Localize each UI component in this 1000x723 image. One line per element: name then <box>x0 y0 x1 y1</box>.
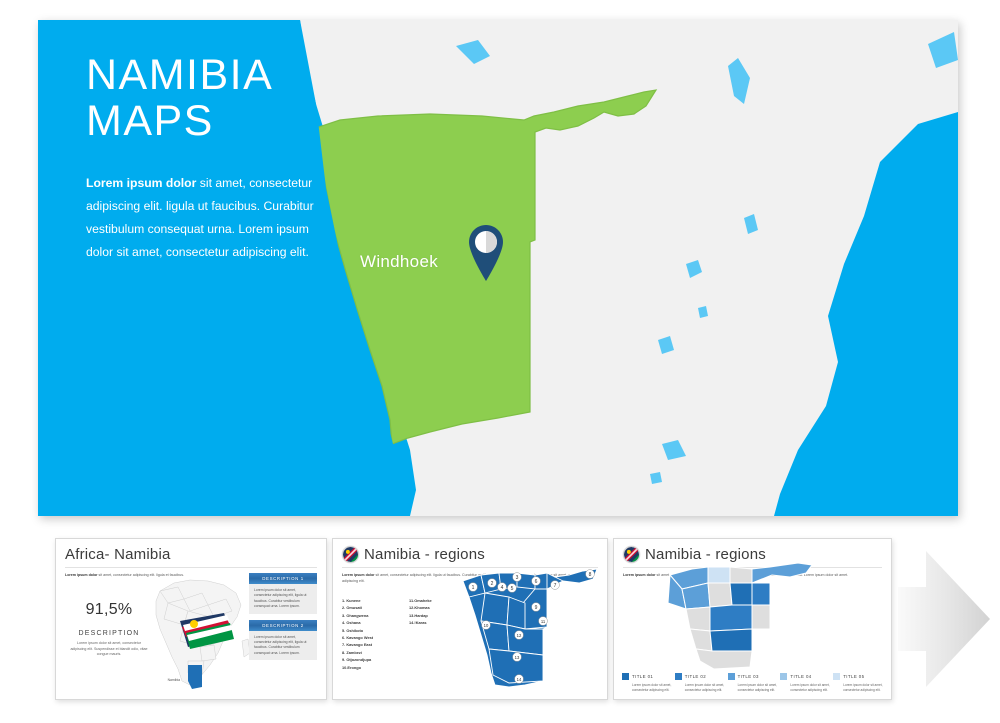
legend-body-2: Lorem ipsum dolor sit amet, consectetur … <box>675 683 725 693</box>
thumb1-description-boxes: DESCRIPTION 1 Lorem ipsum dolor sit amet… <box>249 573 317 666</box>
legend-body-4: Lorem ipsum dolor sit amet, consectetur … <box>780 683 830 693</box>
legend-item-1: TITLE 01 Lorem ipsum dolor sit amet, con… <box>622 673 672 693</box>
legend-swatch-5 <box>833 673 840 680</box>
description-box-1-header: DESCRIPTION 1 <box>249 573 317 584</box>
city-label-windhoek: Windhoek <box>360 252 438 272</box>
list-item: 1. Kunene <box>342 597 401 604</box>
thumb2-title: Namibia - regions <box>364 546 485 563</box>
choropleth-legend: TITLE 01 Lorem ipsum dolor sit amet, con… <box>622 673 883 693</box>
map-marker: 9 <box>535 605 538 611</box>
title-line-2: MAPS <box>86 98 386 144</box>
description-box-2-header: DESCRIPTION 2 <box>249 620 317 631</box>
page-title: NAMIBIA MAPS <box>86 52 386 144</box>
legend-item-4: TITLE 04 Lorem ipsum dolor sit amet, con… <box>780 673 830 693</box>
legend-item-5: TITLE 05 Lorem ipsum dolor sit amet, con… <box>833 673 883 693</box>
map-marker: 4 <box>501 585 504 591</box>
legend-swatch-1 <box>622 673 629 680</box>
list-item: 6. Kavango West <box>342 634 401 641</box>
map-marker: 14 <box>517 677 522 682</box>
list-item: 9. Otjozondjupa <box>342 656 401 663</box>
description-box-2-body: Lorem ipsum dolor sit amet, consectetur … <box>249 631 317 657</box>
description-box-2[interactable]: DESCRIPTION 2 Lorem ipsum dolor sit amet… <box>249 620 317 661</box>
thumbnail-slide-1[interactable]: Africa- Namibia Lorem ipsum dolor sit am… <box>55 538 327 700</box>
map-marker: 13 <box>515 655 520 660</box>
description-box-1-body: Lorem ipsum dolor sit amet, consectetur … <box>249 584 317 610</box>
legend-body-5: Lorem ipsum dolor sit amet, consectetur … <box>833 683 883 693</box>
stat-desc-body: Lorem ipsum dolor sit amet, consectetur … <box>70 641 148 658</box>
list-item: 3. Ohangwena <box>342 612 401 619</box>
list-item: 2. Omusati <box>342 604 401 611</box>
list-item: 4. Oshana <box>342 619 401 626</box>
thumb2-header: Namibia - regions <box>333 539 607 565</box>
thumb2-lead-bold: Lorem ipsum dolor <box>342 573 375 577</box>
arrow-right-icon[interactable] <box>898 545 996 693</box>
africa-callout-label: Namibia <box>168 678 181 682</box>
slide-body-bold: Lorem ipsum dolor <box>86 176 196 190</box>
list-item: 8. Zambezi <box>342 649 401 656</box>
region-list-column-1: 1. Kunene 2. Omusati 3. Ohangwena 4. Osh… <box>342 597 401 671</box>
region-list: 1. Kunene 2. Omusati 3. Ohangwena 4. Osh… <box>342 597 468 671</box>
legend-label-5: TITLE 05 <box>843 674 864 679</box>
legend-label-1: TITLE 01 <box>632 674 653 679</box>
map-marker: 11 <box>541 619 546 624</box>
slide-title-block: NAMIBIA MAPS Lorem ipsum dolor sit amet,… <box>86 52 386 276</box>
map-marker: 8 <box>589 572 592 578</box>
thumbnail-slide-3[interactable]: Namibia - regions Lorem ipsum dolor sit … <box>613 538 892 700</box>
map-marker: 6 <box>535 579 538 585</box>
thumbnail-slide-2[interactable]: Namibia - regions Lorem ipsum dolor sit … <box>332 538 608 700</box>
legend-label-3: TITLE 03 <box>738 674 759 679</box>
namibia-flag-icon <box>342 546 359 563</box>
thumb3-lead-bold: Lorem ipsum dolor <box>623 573 656 577</box>
list-item: 7. Kavango East <box>342 641 401 648</box>
slide-body-text: Lorem ipsum dolor sit amet, consectetur … <box>86 172 338 264</box>
title-line-1: NAMIBIA <box>86 51 273 99</box>
legend-swatch-4 <box>780 673 787 680</box>
namibia-regions-map-choropleth <box>652 561 857 671</box>
africa-map-graphic: Namibia <box>144 569 254 694</box>
legend-item-3: TITLE 03 Lorem ipsum dolor sit amet, con… <box>728 673 778 693</box>
namibia-flag-icon <box>623 546 640 563</box>
thumb1-header: Africa- Namibia <box>56 539 326 565</box>
legend-label-2: TITLE 02 <box>685 674 706 679</box>
map-marker: 10 <box>484 623 489 628</box>
main-slide[interactable]: NAMIBIA MAPS Lorem ipsum dolor sit amet,… <box>38 20 958 516</box>
map-marker: 7 <box>554 583 557 589</box>
map-marker: 5 <box>511 586 514 592</box>
list-item: 10.Erongo <box>342 664 401 671</box>
stat-desc-heading: DESCRIPTION <box>70 630 148 637</box>
thumb1-lead-bold: Lorem ipsum dolor <box>65 573 98 577</box>
map-marker: 3 <box>516 575 519 581</box>
legend-item-2: TITLE 02 Lorem ipsum dolor sit amet, con… <box>675 673 725 693</box>
map-marker: 12 <box>517 633 522 638</box>
map-pin-icon[interactable] <box>466 224 506 282</box>
legend-swatch-2 <box>675 673 682 680</box>
legend-swatch-3 <box>728 673 735 680</box>
legend-body-1: Lorem ipsum dolor sit amet, consectetur … <box>622 683 672 693</box>
thumb1-stat-block: 91,5% DESCRIPTION Lorem ipsum dolor sit … <box>70 601 148 658</box>
stat-percent: 91,5% <box>70 601 148 619</box>
namibia-regions-map-numbered: 1 2 3 4 5 6 7 8 9 10 11 12 13 14 <box>451 563 603 691</box>
thumb1-title: Africa- Namibia <box>65 546 171 563</box>
legend-label-4: TITLE 04 <box>790 674 811 679</box>
list-item: 5. Oshikoto <box>342 627 401 634</box>
map-marker: 1 <box>472 585 475 591</box>
description-box-1[interactable]: DESCRIPTION 1 Lorem ipsum dolor sit amet… <box>249 573 317 614</box>
legend-body-3: Lorem ipsum dolor sit amet, consectetur … <box>728 683 778 693</box>
presentation-preview-stage: NAMIBIA MAPS Lorem ipsum dolor sit amet,… <box>0 0 1000 723</box>
map-marker: 2 <box>491 581 494 587</box>
